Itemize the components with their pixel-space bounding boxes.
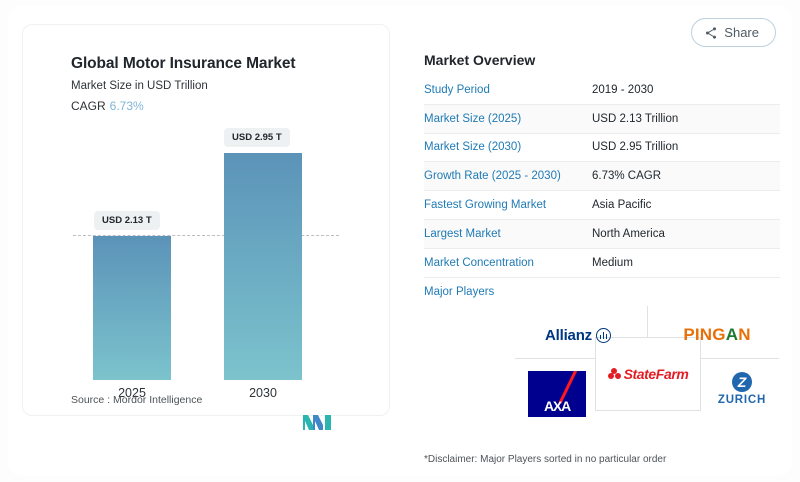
row-label: Market Concentration	[424, 257, 592, 269]
table-row: Market Size (2030) USD 2.95 Trillion	[424, 134, 780, 163]
pingan-wordmark-1: PING	[683, 325, 725, 344]
share-label: Share	[724, 25, 759, 40]
source-text: Source : Mordor Intelligence	[71, 394, 202, 406]
bar-label-2025: USD 2.13 T	[94, 211, 160, 230]
screenshot-root: Global Motor Insurance Market Market Siz…	[0, 0, 800, 482]
row-label: Growth Rate (2025 - 2030)	[424, 170, 592, 182]
logo-axa: AXA	[524, 368, 590, 420]
zurich-wordmark: ZURICH	[718, 394, 766, 406]
table-row: Market Concentration Medium	[424, 249, 780, 278]
x-tick-2030: 2030	[224, 386, 302, 400]
table-row: Market Size (2025) USD 2.13 Trillion	[424, 105, 780, 134]
share-nodes-icon	[704, 26, 718, 40]
row-label: Study Period	[424, 84, 592, 96]
table-row-major-players: Major Players	[424, 278, 780, 307]
overview-title: Market Overview	[424, 52, 535, 68]
chart-subtitle: Market Size in USD Trillion	[71, 80, 208, 92]
overview-panel: Share Market Overview Study Period 2019 …	[410, 14, 784, 466]
cagr-label: CAGR	[71, 99, 106, 113]
table-row: Study Period 2019 - 2030	[424, 76, 780, 105]
row-value: USD 2.13 Trillion	[592, 113, 678, 125]
bar-2030[interactable]	[224, 153, 302, 380]
logo-statefarm: StateFarm	[598, 354, 698, 394]
chart-title: Global Motor Insurance Market	[71, 55, 295, 73]
allianz-bars-icon	[596, 328, 611, 343]
share-button[interactable]: Share	[691, 18, 776, 47]
pingan-wordmark-2: N	[738, 325, 750, 344]
zurich-circle-icon: Z	[732, 372, 752, 392]
row-value: Asia Pacific	[592, 199, 651, 211]
row-value: USD 2.95 Trillion	[592, 141, 678, 153]
row-value: North America	[592, 228, 665, 240]
statefarm-wordmark: StateFarm	[624, 366, 689, 382]
row-value: 2019 - 2030	[592, 84, 653, 96]
row-label: Major Players	[424, 286, 592, 298]
market-overview-table: Study Period 2019 - 2030 Market Size (20…	[424, 76, 780, 306]
bar-chart-plot: USD 2.13 T USD 2.95 T 2025 2030	[23, 125, 391, 380]
row-label: Market Size (2030)	[424, 141, 592, 153]
pingan-accent-a: A	[726, 325, 738, 344]
statefarm-berries-icon	[608, 368, 621, 380]
row-label: Market Size (2025)	[424, 113, 592, 125]
chart-card: Global Motor Insurance Market Market Siz…	[22, 24, 390, 416]
logo-pingan: PINGAN	[652, 316, 782, 354]
disclaimer-text: *Disclaimer: Major Players sorted in no …	[424, 454, 666, 465]
logo-zurich: Z ZURICH	[704, 364, 780, 414]
table-row: Growth Rate (2025 - 2030) 6.73% CAGR	[424, 162, 780, 191]
row-value: Medium	[592, 257, 633, 269]
cagr-value: 6.73%	[110, 99, 144, 113]
bar-label-2030: USD 2.95 T	[224, 128, 290, 147]
row-label: Largest Market	[424, 228, 592, 240]
bar-2025[interactable]	[93, 236, 171, 380]
row-label: Fastest Growing Market	[424, 199, 592, 211]
mordor-intelligence-logo-icon	[302, 411, 334, 431]
table-row: Largest Market North America	[424, 220, 780, 249]
row-value: 6.73% CAGR	[592, 170, 661, 182]
major-players-logo-grid: Allianz PINGAN AXA	[510, 306, 784, 438]
allianz-wordmark: Allianz	[545, 327, 592, 344]
cagr-line: CAGR6.73%	[71, 99, 144, 113]
axa-wordmark: AXA	[544, 398, 570, 414]
table-row: Fastest Growing Market Asia Pacific	[424, 191, 780, 220]
logo-allianz: Allianz	[512, 316, 644, 354]
